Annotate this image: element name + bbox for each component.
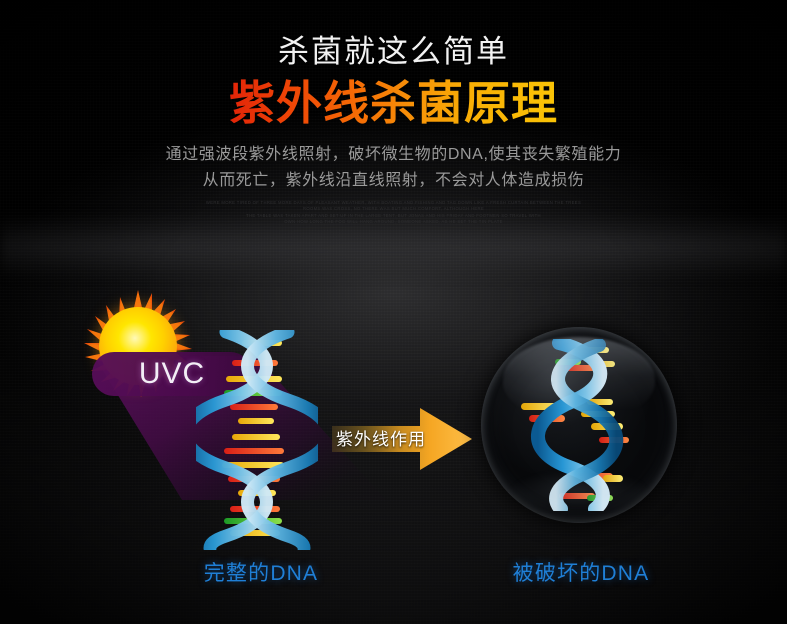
damaged-dna-sphere	[481, 327, 677, 523]
caption-damaged-dna: 被破坏的DNA	[508, 557, 654, 587]
sphere-rim	[481, 327, 677, 523]
caption-intact-dna: 完整的DNA	[196, 557, 326, 587]
dna-intact-graphic	[196, 330, 318, 550]
promo-banner: 杀菌就这么简单 紫外线杀菌原理 通过强波段紫外线照射，破坏微生物的DNA,使其丧…	[0, 0, 787, 624]
page-title: 紫外线杀菌原理	[229, 76, 558, 130]
description: 通过强波段紫外线照射，破坏微生物的DNA,使其丧失繁殖能力 从而死亡，紫外线沿直…	[0, 142, 787, 195]
sub-title: 杀菌就这么简单	[0, 34, 787, 70]
filler-text: WERE MORE TIRED OF THREE MORE DAYS OF PL…	[0, 200, 787, 226]
header: 杀菌就这么简单 紫外线杀菌原理 通过强波段紫外线照射，破坏微生物的DNA,使其丧…	[0, 0, 787, 226]
arrow-label: 紫外线作用	[336, 420, 446, 454]
filler-line-4: OWN HOW LONG THE FOG WILL HANG AROUND, S…	[0, 219, 787, 226]
description-line-2: 从而死亡，紫外线沿直线照射，不会对人体造成损伤	[0, 168, 787, 194]
description-line-1: 通过强波段紫外线照射，破坏微生物的DNA,使其丧失繁殖能力	[0, 142, 787, 168]
